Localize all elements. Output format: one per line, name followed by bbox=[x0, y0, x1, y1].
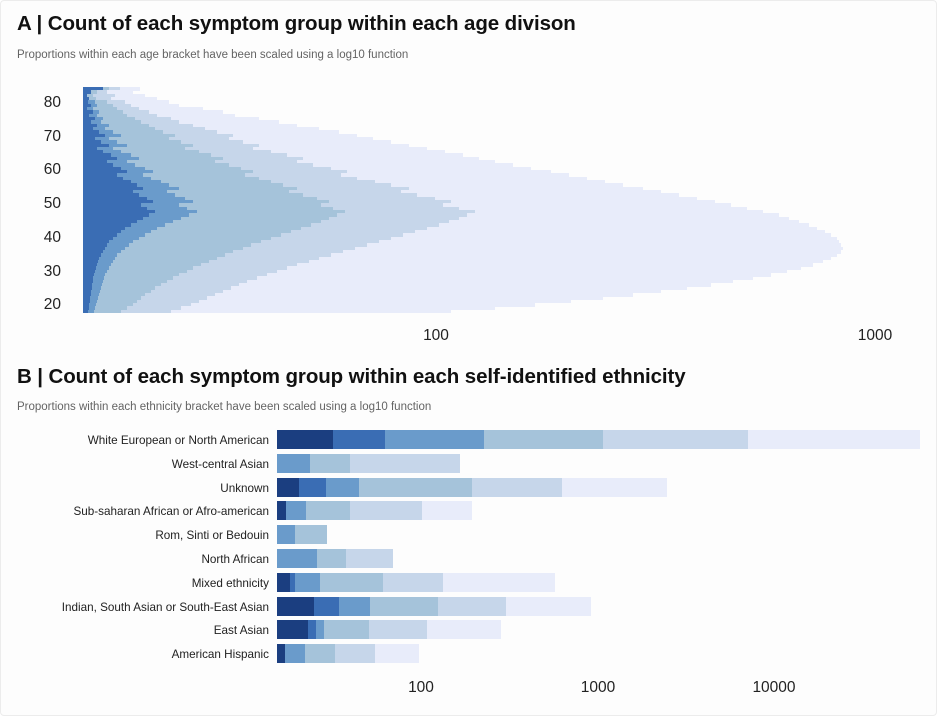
panel-a-subtitle: Proportions within each age bracket have… bbox=[17, 49, 408, 61]
bar-segment bbox=[333, 430, 385, 449]
bar-segment bbox=[277, 525, 295, 544]
panel-b-y-axis: White European or North AmericanWest-cen… bbox=[19, 429, 269, 667]
y-tick-label: 60 bbox=[15, 161, 61, 179]
bar-segment bbox=[314, 597, 339, 616]
bar-segment bbox=[748, 430, 920, 449]
panel-b: B | Count of each symptom group within e… bbox=[1, 353, 937, 716]
bar-segment bbox=[295, 573, 320, 592]
y-tick-label: 50 bbox=[15, 195, 61, 213]
bar-segment bbox=[506, 597, 591, 616]
x-tick-label: 1000 bbox=[835, 327, 915, 345]
bar-segment bbox=[335, 644, 375, 663]
y-tick-label: Mixed ethnicity bbox=[19, 577, 269, 590]
bar-segment bbox=[369, 620, 427, 639]
panel-a: A | Count of each symptom group within e… bbox=[1, 1, 937, 353]
bar-segment bbox=[484, 430, 603, 449]
panel-b-title: B | Count of each symptom group within e… bbox=[17, 365, 686, 389]
bar-segment bbox=[422, 501, 472, 520]
y-tick-label: North African bbox=[19, 553, 269, 566]
bar-segment bbox=[310, 454, 350, 473]
y-tick-label: West-central Asian bbox=[19, 458, 269, 471]
bar-segment bbox=[370, 597, 438, 616]
bar-segment bbox=[285, 644, 305, 663]
bar-segment bbox=[359, 478, 472, 497]
bar-segment bbox=[326, 478, 359, 497]
bar-segment bbox=[385, 430, 484, 449]
bar-row bbox=[277, 620, 501, 639]
x-tick-label: 100 bbox=[396, 327, 476, 345]
bar-segment bbox=[305, 644, 335, 663]
x-tick-label: 1000 bbox=[558, 679, 638, 697]
bar-row bbox=[277, 644, 419, 663]
y-tick-label: 40 bbox=[15, 229, 61, 247]
bar-segment bbox=[286, 501, 306, 520]
bar-row bbox=[277, 454, 460, 473]
bar-segment bbox=[383, 573, 443, 592]
bar-segment bbox=[317, 549, 346, 568]
bar-segment bbox=[320, 573, 383, 592]
y-tick-label: White European or North American bbox=[19, 434, 269, 447]
y-tick-label: 70 bbox=[15, 128, 61, 146]
bar-segment bbox=[603, 430, 748, 449]
bar-row bbox=[277, 573, 555, 592]
bar-segment bbox=[277, 549, 317, 568]
bar-row bbox=[277, 597, 591, 616]
bar-segment bbox=[277, 478, 299, 497]
bar-segment bbox=[121, 310, 171, 314]
bar-segment bbox=[339, 597, 370, 616]
bar-segment bbox=[375, 644, 419, 663]
bar-segment bbox=[562, 478, 667, 497]
bar-segment bbox=[324, 620, 369, 639]
y-tick-label: Rom, Sinti or Bedouin bbox=[19, 529, 269, 542]
y-tick-label: East Asian bbox=[19, 624, 269, 637]
y-tick-label: 20 bbox=[15, 296, 61, 314]
bar-segment bbox=[277, 454, 310, 473]
bar-segment bbox=[308, 620, 316, 639]
y-tick-label: 30 bbox=[15, 263, 61, 281]
bar-segment bbox=[346, 549, 393, 568]
bar-segment bbox=[277, 430, 333, 449]
panel-a-plot-area bbox=[83, 87, 921, 313]
bar-segment bbox=[277, 597, 314, 616]
bar-row bbox=[277, 525, 327, 544]
bar-segment bbox=[316, 620, 324, 639]
bar-segment bbox=[427, 620, 501, 639]
y-tick-label: Sub-saharan African or Afro-american bbox=[19, 505, 269, 518]
bar-segment bbox=[306, 501, 350, 520]
y-tick-label: American Hispanic bbox=[19, 648, 269, 661]
y-tick-label: 80 bbox=[15, 94, 61, 112]
x-tick-label: 100 bbox=[381, 679, 461, 697]
bar-segment bbox=[277, 501, 286, 520]
y-tick-label: Indian, South Asian or South-East Asian bbox=[19, 601, 269, 614]
bar-segment bbox=[299, 478, 326, 497]
bar-segment bbox=[277, 620, 308, 639]
bar-segment bbox=[277, 573, 290, 592]
bar-row bbox=[277, 478, 667, 497]
bar-row bbox=[83, 310, 451, 314]
bar-segment bbox=[277, 644, 285, 663]
bar-segment bbox=[472, 478, 562, 497]
bar-segment bbox=[438, 597, 506, 616]
bar-row bbox=[277, 549, 393, 568]
x-tick-label: 10000 bbox=[734, 679, 814, 697]
y-tick-label: Unknown bbox=[19, 482, 269, 495]
bar-segment bbox=[350, 454, 460, 473]
bar-row bbox=[277, 430, 920, 449]
bar-segment bbox=[443, 573, 555, 592]
bar-segment bbox=[350, 501, 422, 520]
panel-b-plot-area bbox=[277, 429, 922, 667]
panel-b-subtitle: Proportions within each ethnicity bracke… bbox=[17, 401, 431, 413]
panel-a-title: A | Count of each symptom group within e… bbox=[17, 12, 576, 36]
bar-segment bbox=[295, 525, 327, 544]
figure-container: A | Count of each symptom group within e… bbox=[0, 0, 937, 716]
bar-segment bbox=[171, 310, 451, 314]
bar-segment bbox=[94, 310, 121, 314]
bar-row bbox=[277, 501, 472, 520]
